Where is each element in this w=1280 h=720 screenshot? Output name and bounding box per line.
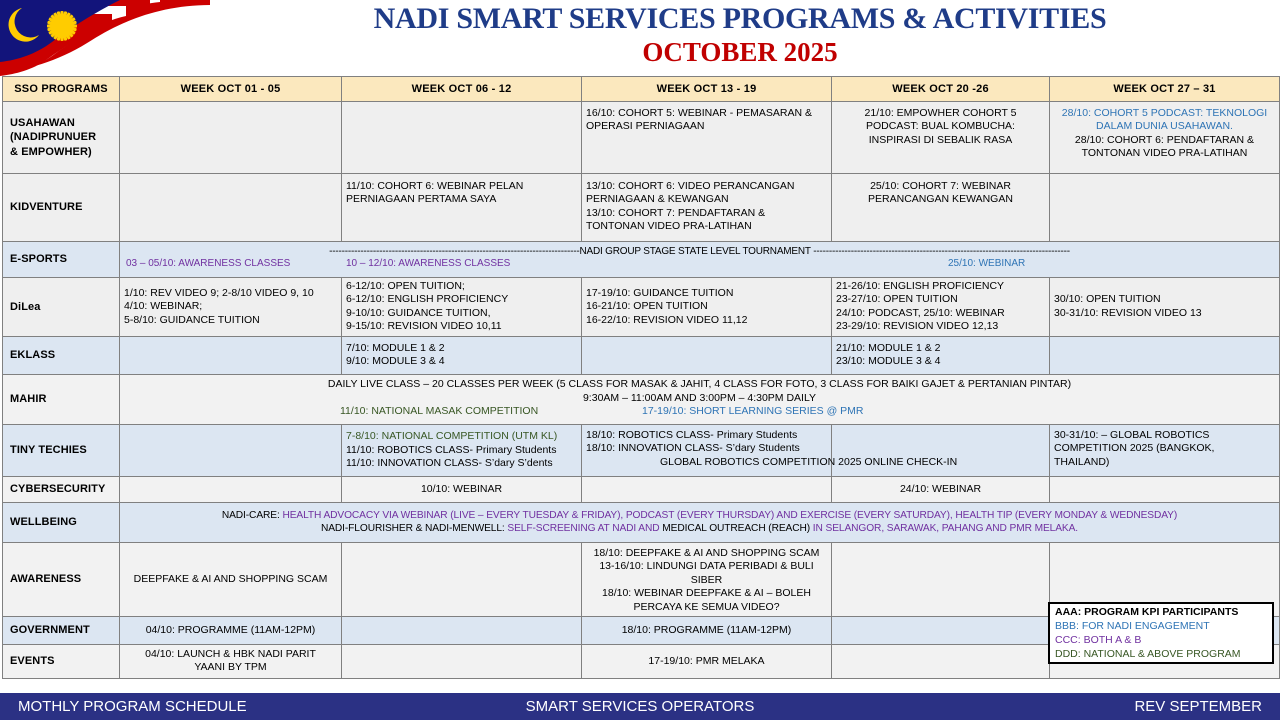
text-line: OPERASI PERNIAGAAN <box>586 120 827 133</box>
text-line: 21-26/10: ENGLISH PROFICIENCY <box>836 280 1045 293</box>
cell-government-w2 <box>342 616 582 644</box>
legend-item-bbb: BBB: FOR NADI ENGAGEMENT <box>1055 620 1267 634</box>
text-line: 23-29/10: REVISION VIDEO 12,13 <box>836 320 1045 333</box>
text-line: PERCAYA KE SEMUA VIDEO? <box>586 601 827 614</box>
cell-usahawan-w2 <box>342 102 582 174</box>
cell-eklass-w5 <box>1050 336 1280 374</box>
text-line: 11/10: INNOVATION CLASS- S’dary S’dents <box>346 457 577 470</box>
text-segment: HEALTH ADVOCACY VIA WEBINAR (LIVE – EVER… <box>282 510 1177 521</box>
cell-awareness-w2 <box>342 542 582 616</box>
text-line: 18/10: INNOVATION CLASS- S’dary Students <box>586 442 827 455</box>
text-line: 21/10: EMPOWHER COHORT 5 <box>836 107 1045 120</box>
column-header-week-2: WEEK OCT 06 - 12 <box>342 77 582 102</box>
row-label-events: EVENTS <box>3 644 120 678</box>
cell-eklass-w2: 7/10: MODULE 1 & 2 9/10: MODULE 3 & 4 <box>342 336 582 374</box>
page-subtitle: OCTOBER 2025 <box>210 37 1270 67</box>
text-line: INSPIRASI DI SEBALIK RASA <box>836 134 1045 147</box>
text-line: 28/10: COHORT 5 PODCAST: TEKNOLOGI <box>1054 107 1275 120</box>
cell-usahawan-w4: 21/10: EMPOWHER COHORT 5 PODCAST: BUAL K… <box>832 102 1050 174</box>
footer-bar: MOTHLY PROGRAM SCHEDULE SMART SERVICES O… <box>0 693 1280 720</box>
text-line: 11/10: ROBOTICS CLASS- Primary Students <box>346 444 577 457</box>
text-line: 9-15/10: REVISION VIDEO 10,11 <box>346 320 577 333</box>
text-line: 7/10: MODULE 1 & 2 <box>346 342 577 355</box>
cell-eklass-w3 <box>582 336 832 374</box>
cell-awareness-w4 <box>832 542 1050 616</box>
table-row-tiny-techies: TINY TECHIES 7-8/10: NATIONAL COMPETITIO… <box>3 424 1280 476</box>
cell-cybersecurity-w4: 24/10: WEBINAR <box>832 476 1050 502</box>
page-title: NADI SMART SERVICES PROGRAMS & ACTIVITIE… <box>210 2 1270 36</box>
text-line: 7-8/10: NATIONAL COMPETITION (UTM KL) <box>346 430 577 443</box>
text-line: 18/10: WEBINAR DEEPFAKE & AI – BOLEH <box>586 587 827 600</box>
cell-cybersecurity-w2: 10/10: WEBINAR <box>342 476 582 502</box>
cell-kidventure-w2: 11/10: COHORT 6: WEBINAR PELAN PERNIAGAA… <box>342 174 582 242</box>
malaysia-flag-icon <box>0 0 210 76</box>
row-label-awareness: AWARENESS <box>3 542 120 616</box>
text-line: 18/10: ROBOTICS CLASS- Primary Students <box>586 429 827 442</box>
text-line: 16-21/10: OPEN TUITION <box>586 300 827 313</box>
cell-mahir-span: DAILY LIVE CLASS – 20 CLASSES PER WEEK (… <box>120 374 1280 424</box>
text-line: TONTONAN VIDEO PRA-LATIHAN <box>586 220 827 233</box>
text-line: SIBER <box>586 574 827 587</box>
text-line: 13/10: COHORT 7: PENDAFTARAN & <box>586 207 827 220</box>
table-row-eklass: EKLASS 7/10: MODULE 1 & 2 9/10: MODULE 3… <box>3 336 1280 374</box>
text-line: 23-27/10: OPEN TUITION <box>836 293 1045 306</box>
cell-awareness-w3: 18/10: DEEPFAKE & AI AND SHOPPING SCAM 1… <box>582 542 832 616</box>
table-row-usahawan: USAHAWAN (NADIPRUNUER & EMPOWHER) 16/10:… <box>3 102 1280 174</box>
cell-eklass-w4: 21/10: MODULE 1 & 2 23/10: MODULE 3 & 4 <box>832 336 1050 374</box>
text-line: 4/10: WEBINAR; <box>124 300 337 313</box>
legend-item-aaa: AAA: PROGRAM KPI PARTICIPANTS <box>1055 606 1267 620</box>
table-row-kidventure: KIDVENTURE 11/10: COHORT 6: WEBINAR PELA… <box>3 174 1280 242</box>
page-title-block: NADI SMART SERVICES PROGRAMS & ACTIVITIE… <box>210 2 1270 67</box>
cell-tiny-techies-w2: 7-8/10: NATIONAL COMPETITION (UTM KL) 11… <box>342 424 582 476</box>
esports-item-3: 25/10: WEBINAR <box>948 258 1025 271</box>
cell-government-w3: 18/10: PROGRAMME (11AM-12PM) <box>582 616 832 644</box>
esports-banner: ----------------------------------------… <box>122 246 1277 259</box>
text-line: 16-22/10: REVISION VIDEO 11,12 <box>586 314 827 327</box>
cell-kidventure-w1 <box>120 174 342 242</box>
table-row-dilea: DiLea 1/10: REV VIDEO 9; 2-8/10 VIDEO 9,… <box>3 278 1280 337</box>
cell-dilea-w5: 30/10: OPEN TUITION 30-31/10: REVISION V… <box>1050 278 1280 337</box>
text-line: 6-12/10: OPEN TUITION; <box>346 280 577 293</box>
table-row-mahir: MAHIR DAILY LIVE CLASS – 20 CLASSES PER … <box>3 374 1280 424</box>
column-header-week-1: WEEK OCT 01 - 05 <box>120 77 342 102</box>
text-segment: IN SELANGOR, SARAWAK, PAHANG AND PMR MEL… <box>813 523 1078 534</box>
cell-tiny-techies-w1 <box>120 424 342 476</box>
text-line: 23/10: MODULE 3 & 4 <box>836 355 1045 368</box>
row-label-esports: E-SPORTS <box>3 242 120 278</box>
mahir-line-2: 9:30AM – 11:00AM AND 3:00PM – 4:30PM DAI… <box>122 392 1277 405</box>
row-label-tiny-techies: TINY TECHIES <box>3 424 120 476</box>
text-line: 9-10/10: GUIDANCE TUITION, <box>346 307 577 320</box>
table-header-row: SSO PROGRAMS WEEK OCT 01 - 05 WEEK OCT 0… <box>3 77 1280 102</box>
wellbeing-line-2: NADI-FLOURISHER & NADI-MENWELL: SELF-SCR… <box>122 522 1277 535</box>
text-line: 30/10: OPEN TUITION <box>1054 293 1275 306</box>
text-segment: SELF-SCREENING AT NADI AND <box>507 523 662 534</box>
cell-usahawan-w5: 28/10: COHORT 5 PODCAST: TEKNOLOGI DALAM… <box>1050 102 1280 174</box>
table-row-wellbeing: WELLBEING NADI-CARE: HEALTH ADVOCACY VIA… <box>3 502 1280 542</box>
row-label-kidventure: KIDVENTURE <box>3 174 120 242</box>
schedule-page: NADI SMART SERVICES PROGRAMS & ACTIVITIE… <box>0 0 1280 720</box>
esports-item-2: 10 – 12/10: AWARENESS CLASSES <box>346 258 510 271</box>
text-line: 9/10: MODULE 3 & 4 <box>346 355 577 368</box>
cell-events-w2 <box>342 644 582 678</box>
table-row-cybersecurity: CYBERSECURITY 10/10: WEBINAR 24/10: WEBI… <box>3 476 1280 502</box>
cell-government-w4 <box>832 616 1050 644</box>
text-line: PERANCANGAN KEWANGAN <box>836 193 1045 206</box>
cell-wellbeing-span: NADI-CARE: HEALTH ADVOCACY VIA WEBINAR (… <box>120 502 1280 542</box>
text-line: COMPETITION 2025 (BANGKOK, <box>1054 442 1275 455</box>
text-line: 13-16/10: LINDUNGI DATA PERIBADI & BULI <box>586 560 827 573</box>
column-header-week-4: WEEK OCT 20 -26 <box>832 77 1050 102</box>
text-line: TONTONAN VIDEO PRA-LATIHAN <box>1054 147 1275 160</box>
esports-item-1: 03 – 05/10: AWARENESS CLASSES <box>126 258 290 271</box>
text-line: 24/10: PODCAST, 25/10: WEBINAR <box>836 307 1045 320</box>
mahir-line-1: DAILY LIVE CLASS – 20 CLASSES PER WEEK (… <box>122 378 1277 391</box>
text-line: 25/10: COHORT 7: WEBINAR <box>836 180 1045 193</box>
wellbeing-line-1: NADI-CARE: HEALTH ADVOCACY VIA WEBINAR (… <box>122 509 1277 522</box>
cell-cybersecurity-w5 <box>1050 476 1280 502</box>
esports-items: 03 – 05/10: AWARENESS CLASSES 10 – 12/10… <box>122 258 1277 273</box>
cell-eklass-w1 <box>120 336 342 374</box>
legend-box: AAA: PROGRAM KPI PARTICIPANTS BBB: FOR N… <box>1048 602 1274 664</box>
row-label-usahawan-l2: (NADIPRUNUER <box>10 130 115 144</box>
text-line: 5-8/10: GUIDANCE TUITION <box>124 314 337 327</box>
text-line: 21/10: MODULE 1 & 2 <box>836 342 1045 355</box>
cell-tiny-techies-w5: 30-31/10: – GLOBAL ROBOTICS COMPETITION … <box>1050 424 1280 476</box>
cell-kidventure-w5 <box>1050 174 1280 242</box>
text-line: 13/10: COHORT 6: VIDEO PERANCANGAN <box>586 180 827 193</box>
row-label-usahawan: USAHAWAN (NADIPRUNUER & EMPOWHER) <box>3 102 120 174</box>
cell-dilea-w4: 21-26/10: ENGLISH PROFICIENCY 23-27/10: … <box>832 278 1050 337</box>
text-line: 30-31/10: REVISION VIDEO 13 <box>1054 307 1275 320</box>
text-line: DALAM DUNIA USAHAWAN. <box>1054 120 1275 133</box>
cell-kidventure-w3: 13/10: COHORT 6: VIDEO PERANCANGAN PERNI… <box>582 174 832 242</box>
text-line: PODCAST: BUAL KOMBUCHA: <box>836 120 1045 133</box>
text-line: 11/10: COHORT 6: WEBINAR PELAN <box>346 180 577 193</box>
cell-usahawan-w3: 16/10: COHORT 5: WEBINAR - PEMASARAN & O… <box>582 102 832 174</box>
text-line: THAILAND) <box>1054 456 1275 469</box>
text-line: 17-19/10: GUIDANCE TUITION <box>586 287 827 300</box>
cell-awareness-w1: DEEPFAKE & AI AND SHOPPING SCAM <box>120 542 342 616</box>
legend-item-ccc: CCC: BOTH A & B <box>1055 634 1267 648</box>
tiny-techies-span-line: GLOBAL ROBOTICS COMPETITION 2025 ONLINE … <box>660 456 957 469</box>
text-line: 04/10: LAUNCH & HBK NADI PARIT <box>124 648 337 661</box>
cell-usahawan-w1 <box>120 102 342 174</box>
row-label-usahawan-l1: USAHAWAN <box>10 116 115 130</box>
text-line: 16/10: COHORT 5: WEBINAR - PEMASARAN & <box>586 107 827 120</box>
row-label-wellbeing: WELLBEING <box>3 502 120 542</box>
cell-cybersecurity-w1 <box>120 476 342 502</box>
text-line: YAANI BY TPM <box>124 661 337 674</box>
cell-tiny-techies-w3: 18/10: ROBOTICS CLASS- Primary Students … <box>582 424 832 476</box>
row-label-government: GOVERNMENT <box>3 616 120 644</box>
text-line: 18/10: DEEPFAKE & AI AND SHOPPING SCAM <box>586 547 827 560</box>
cell-events-w4 <box>832 644 1050 678</box>
mahir-item-national-masak: 11/10: NATIONAL MASAK COMPETITION <box>340 405 538 418</box>
cell-government-w1: 04/10: PROGRAMME (11AM-12PM) <box>120 616 342 644</box>
text-line: 6-12/10: ENGLISH PROFICIENCY <box>346 293 577 306</box>
mahir-items: 11/10: NATIONAL MASAK COMPETITION 17-19/… <box>122 405 1277 420</box>
text-line: 1/10: REV VIDEO 9; 2-8/10 VIDEO 9, 10 <box>124 287 337 300</box>
text-segment: MEDICAL OUTREACH (REACH) <box>662 523 813 534</box>
cell-dilea-w1: 1/10: REV VIDEO 9; 2-8/10 VIDEO 9, 10 4/… <box>120 278 342 337</box>
column-header-sso-programs: SSO PROGRAMS <box>3 77 120 102</box>
row-label-cybersecurity: CYBERSECURITY <box>3 476 120 502</box>
cell-dilea-w2: 6-12/10: OPEN TUITION; 6-12/10: ENGLISH … <box>342 278 582 337</box>
text-line: 30-31/10: – GLOBAL ROBOTICS <box>1054 429 1275 442</box>
cell-events-w3: 17-19/10: PMR MELAKA <box>582 644 832 678</box>
row-label-dilea: DiLea <box>3 278 120 337</box>
row-label-eklass: EKLASS <box>3 336 120 374</box>
cell-esports-span: ----------------------------------------… <box>120 242 1280 278</box>
text-segment: NADI-FLOURISHER & NADI-MENWELL: <box>321 523 507 534</box>
cell-cybersecurity-w3 <box>582 476 832 502</box>
legend-item-ddd: DDD: NATIONAL & ABOVE PROGRAM <box>1055 648 1267 662</box>
footer-right-text: REV SEPTEMBER <box>1134 698 1262 715</box>
cell-kidventure-w4: 25/10: COHORT 7: WEBINAR PERANCANGAN KEW… <box>832 174 1050 242</box>
cell-dilea-w3: 17-19/10: GUIDANCE TUITION 16-21/10: OPE… <box>582 278 832 337</box>
text-line: PERNIAGAAN & KEWANGAN <box>586 193 827 206</box>
text-segment: NADI-CARE: <box>222 510 283 521</box>
column-header-week-5: WEEK OCT 27 – 31 <box>1050 77 1280 102</box>
text-line: 28/10: COHORT 6: PENDAFTARAN & <box>1054 134 1275 147</box>
mahir-item-short-learning: 17-19/10: SHORT LEARNING SERIES @ PMR <box>642 405 864 418</box>
column-header-week-3: WEEK OCT 13 - 19 <box>582 77 832 102</box>
row-label-usahawan-l3: & EMPOWHER) <box>10 145 115 159</box>
text-line: PERNIAGAAN PERTAMA SAYA <box>346 193 577 206</box>
table-row-esports: E-SPORTS -------------------------------… <box>3 242 1280 278</box>
footer-left-text: MOTHLY PROGRAM SCHEDULE <box>18 698 247 715</box>
schedule-table: SSO PROGRAMS WEEK OCT 01 - 05 WEEK OCT 0… <box>2 76 1280 679</box>
cell-events-w1: 04/10: LAUNCH & HBK NADI PARIT YAANI BY … <box>120 644 342 678</box>
row-label-mahir: MAHIR <box>3 374 120 424</box>
